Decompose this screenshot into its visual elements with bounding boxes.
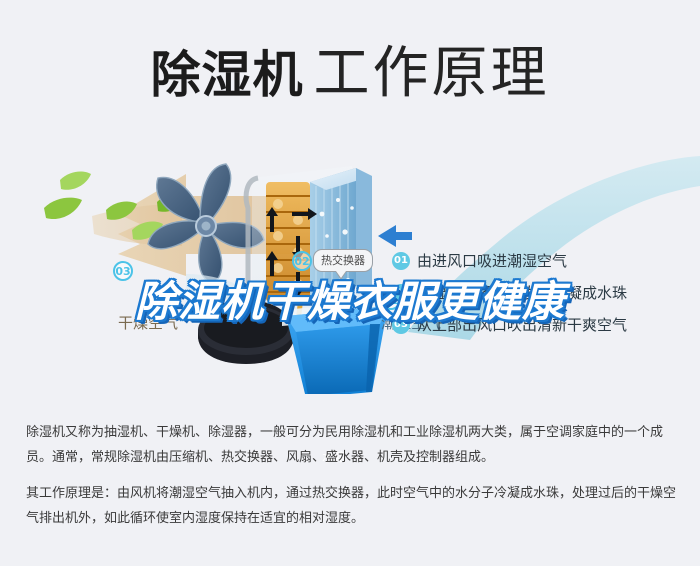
page-title: 除湿机工作原理 <box>0 28 700 109</box>
body-paragraph-2: 其工作原理是：由风机将潮湿空气抽入机内，通过热交换器，此时空气中的水分子冷凝成水… <box>26 481 678 531</box>
step-badge: 01 <box>392 252 410 270</box>
humid-air-inlet-arrow <box>378 225 412 247</box>
page-title-part1: 除湿机 <box>151 46 304 104</box>
page-title-part2: 工作原理 <box>314 41 550 106</box>
overlay-headline: 除湿机干燥衣服更健康 <box>0 268 700 329</box>
page-root: 除湿机工作原理 <box>0 0 700 566</box>
body-paragraph-1: 除湿机又称为抽湿机、干燥机、除湿器，一般可分为民用除湿机和工业除湿机两大类，属于… <box>26 420 678 470</box>
